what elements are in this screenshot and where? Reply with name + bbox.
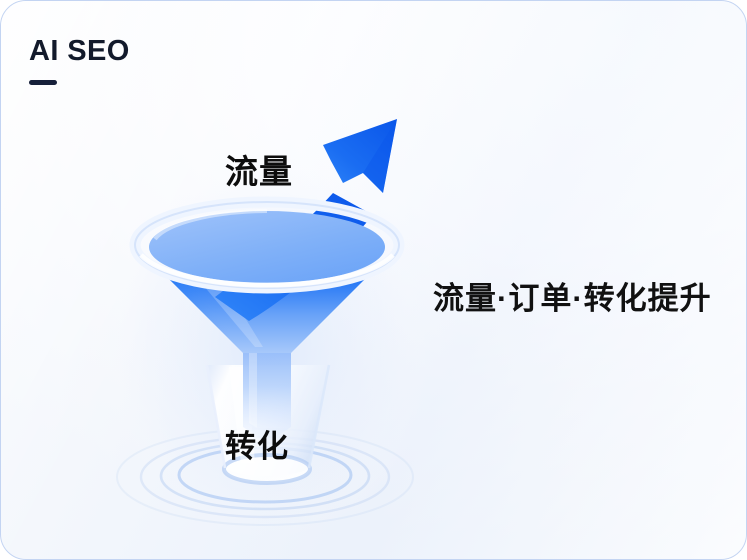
- funnel-label-traffic: 流量: [225, 145, 293, 193]
- tagline-text: 流量·订单·转化提升: [433, 273, 712, 318]
- funnel-illustration: 流量 转化: [97, 97, 437, 537]
- title-underline-rule: [29, 80, 57, 85]
- funnel-label-conversion: 转化: [225, 421, 289, 466]
- brand-block: AI SEO: [29, 37, 130, 85]
- poster-card: AI SEO 流量·订单·转化提升: [0, 0, 747, 560]
- page-title: AI SEO: [29, 37, 130, 66]
